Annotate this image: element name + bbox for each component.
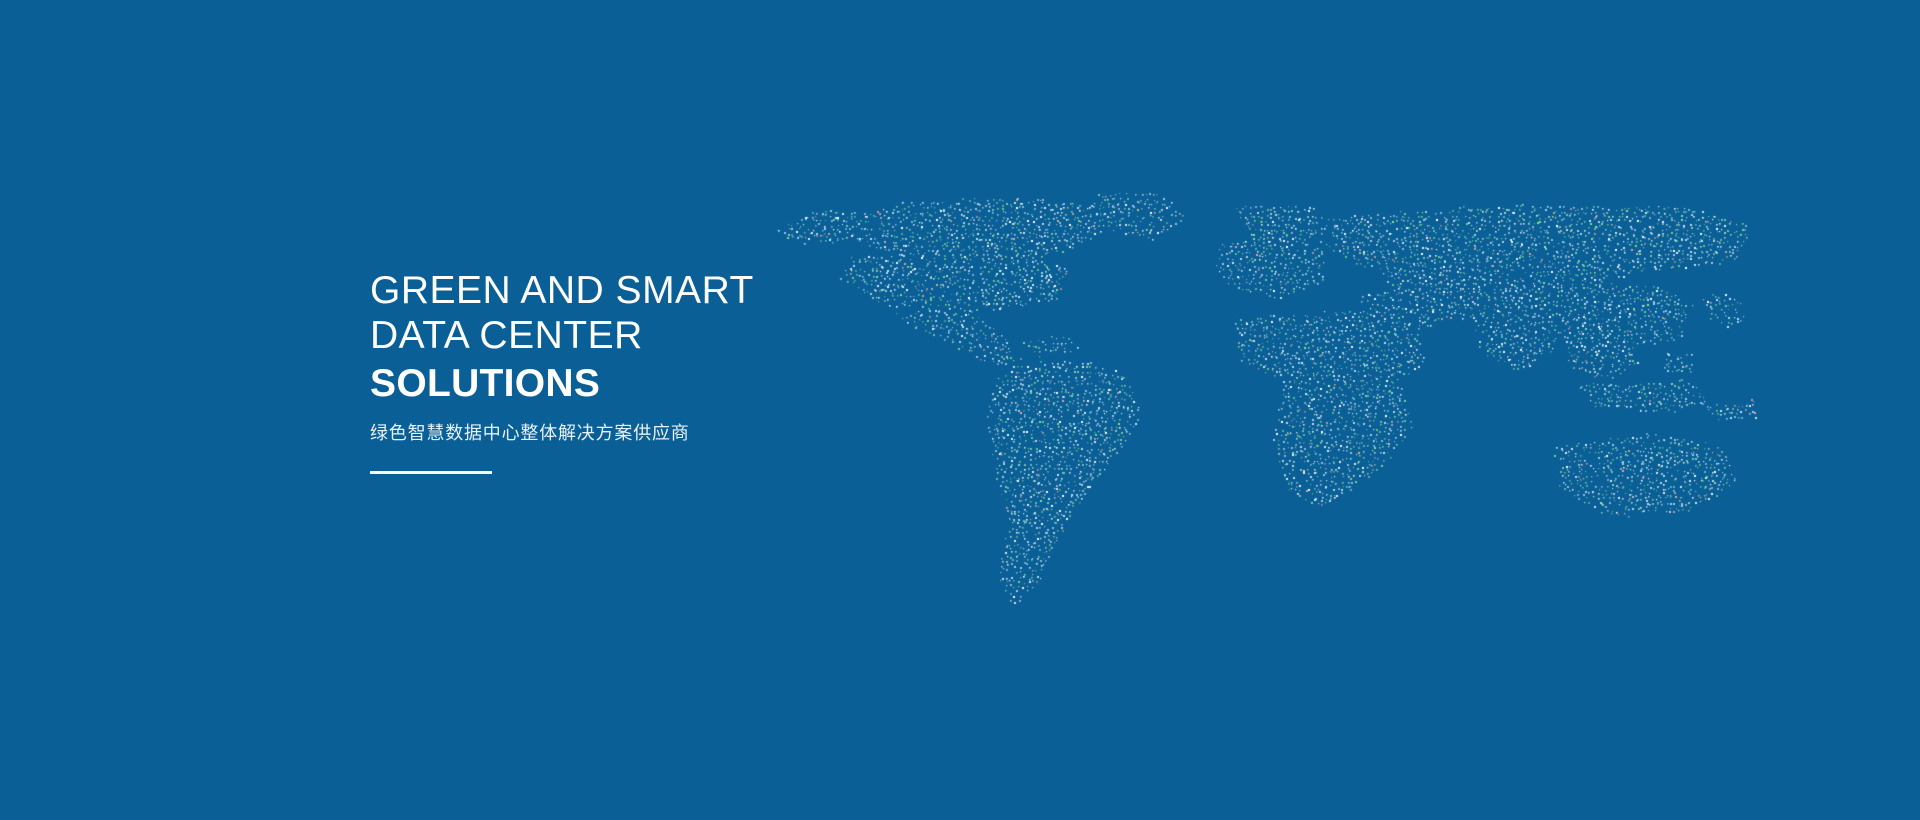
hero-divider-rule xyxy=(370,471,492,474)
hero-banner: GREEN AND SMART DATA CENTER SOLUTIONS 绿色… xyxy=(0,0,1920,820)
world-map-graphic xyxy=(0,0,1920,820)
headline-line-1: GREEN AND SMART xyxy=(370,268,890,313)
dotted-world-map-canvas xyxy=(0,0,1920,820)
headline-line-2: DATA CENTER xyxy=(370,313,890,358)
hero-text-block: GREEN AND SMART DATA CENTER SOLUTIONS 绿色… xyxy=(370,268,890,474)
headline-line-3: SOLUTIONS xyxy=(370,360,890,407)
hero-subtitle: 绿色智慧数据中心整体解决方案供应商 xyxy=(370,421,890,447)
